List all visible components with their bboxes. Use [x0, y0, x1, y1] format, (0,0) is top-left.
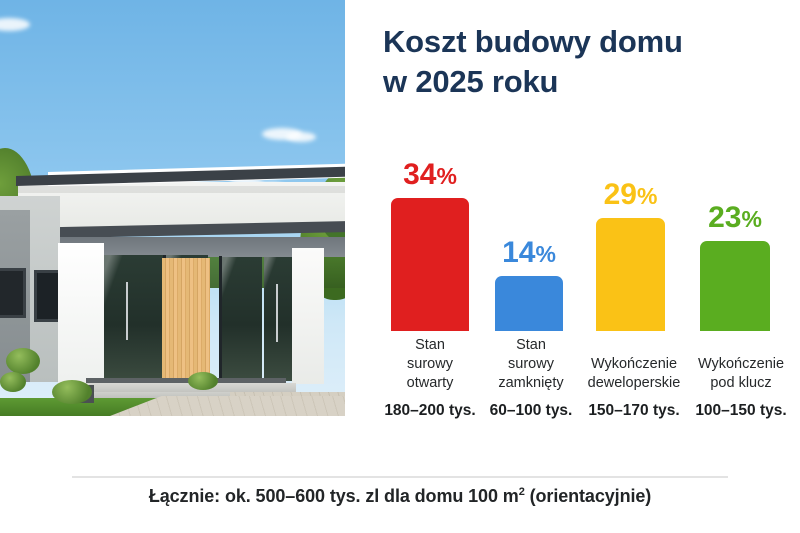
category-label-line: [685, 336, 797, 355]
percent-sign-icon: %: [637, 183, 657, 209]
bar-percent-label: 34%: [403, 160, 457, 190]
bar-column[interactable]: 14%: [495, 130, 563, 331]
bar-category-label: Wykończeniepod klucz: [685, 336, 797, 393]
bar-column[interactable]: 23%: [700, 130, 770, 331]
shrub-icon: [0, 372, 26, 392]
percent-sign-icon: %: [741, 206, 761, 232]
shrub-icon: [188, 372, 218, 390]
category-label-line: surowy: [485, 355, 577, 374]
summary-text-before: Łącznie: ok. 500–600 tys. zl dla domu 10…: [149, 486, 519, 506]
bar-category-label: Stansurowyzamknięty: [485, 336, 577, 393]
house-photo: [0, 0, 345, 416]
bar-category-label: Stansurowyotwarty: [375, 336, 485, 393]
category-label-line: Wykończenie: [685, 355, 797, 374]
parapet-shadow: [18, 186, 345, 193]
category-label-line: pod klucz: [685, 374, 797, 393]
percent-sign-icon: %: [535, 241, 555, 267]
summary-caption: Łącznie: ok. 500–600 tys. zl dla domu 10…: [0, 486, 800, 507]
bar-group: 34%14%29%23%: [345, 130, 800, 331]
bar-price-label: 150–170 tys.: [579, 402, 689, 420]
bar-chart: 34%14%29%23% StansurowyotwartyStansurowy…: [345, 130, 800, 470]
category-label-line: Stan: [375, 336, 485, 355]
category-label-line: otwarty: [375, 374, 485, 393]
bar-column[interactable]: 29%: [596, 130, 665, 331]
window-icon: [0, 268, 26, 318]
sliding-glass-door: [264, 257, 292, 381]
door-handle: [126, 282, 128, 340]
bar-column[interactable]: 34%: [391, 130, 469, 331]
shrub-icon: [52, 380, 92, 404]
page-title: Koszt budowy domu w 2025 roku: [383, 22, 783, 103]
bar-percent-label: 23%: [708, 203, 762, 233]
sliding-glass-door: [222, 257, 262, 381]
bar-rect[interactable]: [700, 241, 770, 331]
bar-price-label: 60–100 tys.: [485, 402, 577, 420]
window-mullion: [219, 256, 222, 382]
bar-price-label: 180–200 tys.: [375, 402, 485, 420]
shrub-icon: [6, 348, 40, 374]
bar-percent-value: 14: [502, 236, 535, 269]
cloud-icon: [286, 132, 316, 142]
wood-cladding-panel: [162, 258, 210, 382]
summary-text-after: (orientacyjnie): [525, 486, 651, 506]
page-title-line-2: w 2025 roku: [383, 62, 783, 102]
category-label-line: Stan: [485, 336, 577, 355]
percent-sign-icon: %: [436, 163, 456, 189]
price-label-group: 180–200 tys.60–100 tys.150–170 tys.100–1…: [345, 402, 800, 432]
category-label-line: [579, 336, 689, 355]
bar-category-label: Wykończeniedeweloperskie: [579, 336, 689, 393]
cloud-icon: [0, 18, 30, 31]
infographic-page: Koszt budowy domu w 2025 roku 34%14%29%2…: [0, 0, 800, 533]
white-pillar: [58, 243, 104, 387]
bar-rect[interactable]: [391, 198, 469, 331]
bar-percent-value: 34: [403, 158, 436, 191]
white-pillar: [292, 248, 324, 384]
bar-rect[interactable]: [495, 276, 563, 331]
sliding-glass-door: [104, 255, 164, 383]
bar-rect[interactable]: [596, 218, 665, 331]
bar-percent-value: 23: [708, 201, 741, 234]
category-label-line: zamknięty: [485, 374, 577, 393]
bar-percent-label: 14%: [502, 238, 556, 268]
page-title-line-1: Koszt budowy domu: [383, 22, 783, 62]
door-handle: [276, 284, 278, 342]
category-label-line: deweloperskie: [579, 374, 689, 393]
bar-price-label: 100–150 tys.: [685, 402, 797, 420]
category-label-line: surowy: [375, 355, 485, 374]
footer-divider: [72, 476, 728, 478]
category-label-line: Wykończenie: [579, 355, 689, 374]
bar-percent-value: 29: [604, 178, 637, 211]
bar-percent-label: 29%: [604, 180, 658, 210]
chart-panel: Koszt budowy domu w 2025 roku 34%14%29%2…: [345, 0, 800, 470]
category-label-group: StansurowyotwartyStansurowyzamkniętyWyko…: [345, 336, 800, 404]
